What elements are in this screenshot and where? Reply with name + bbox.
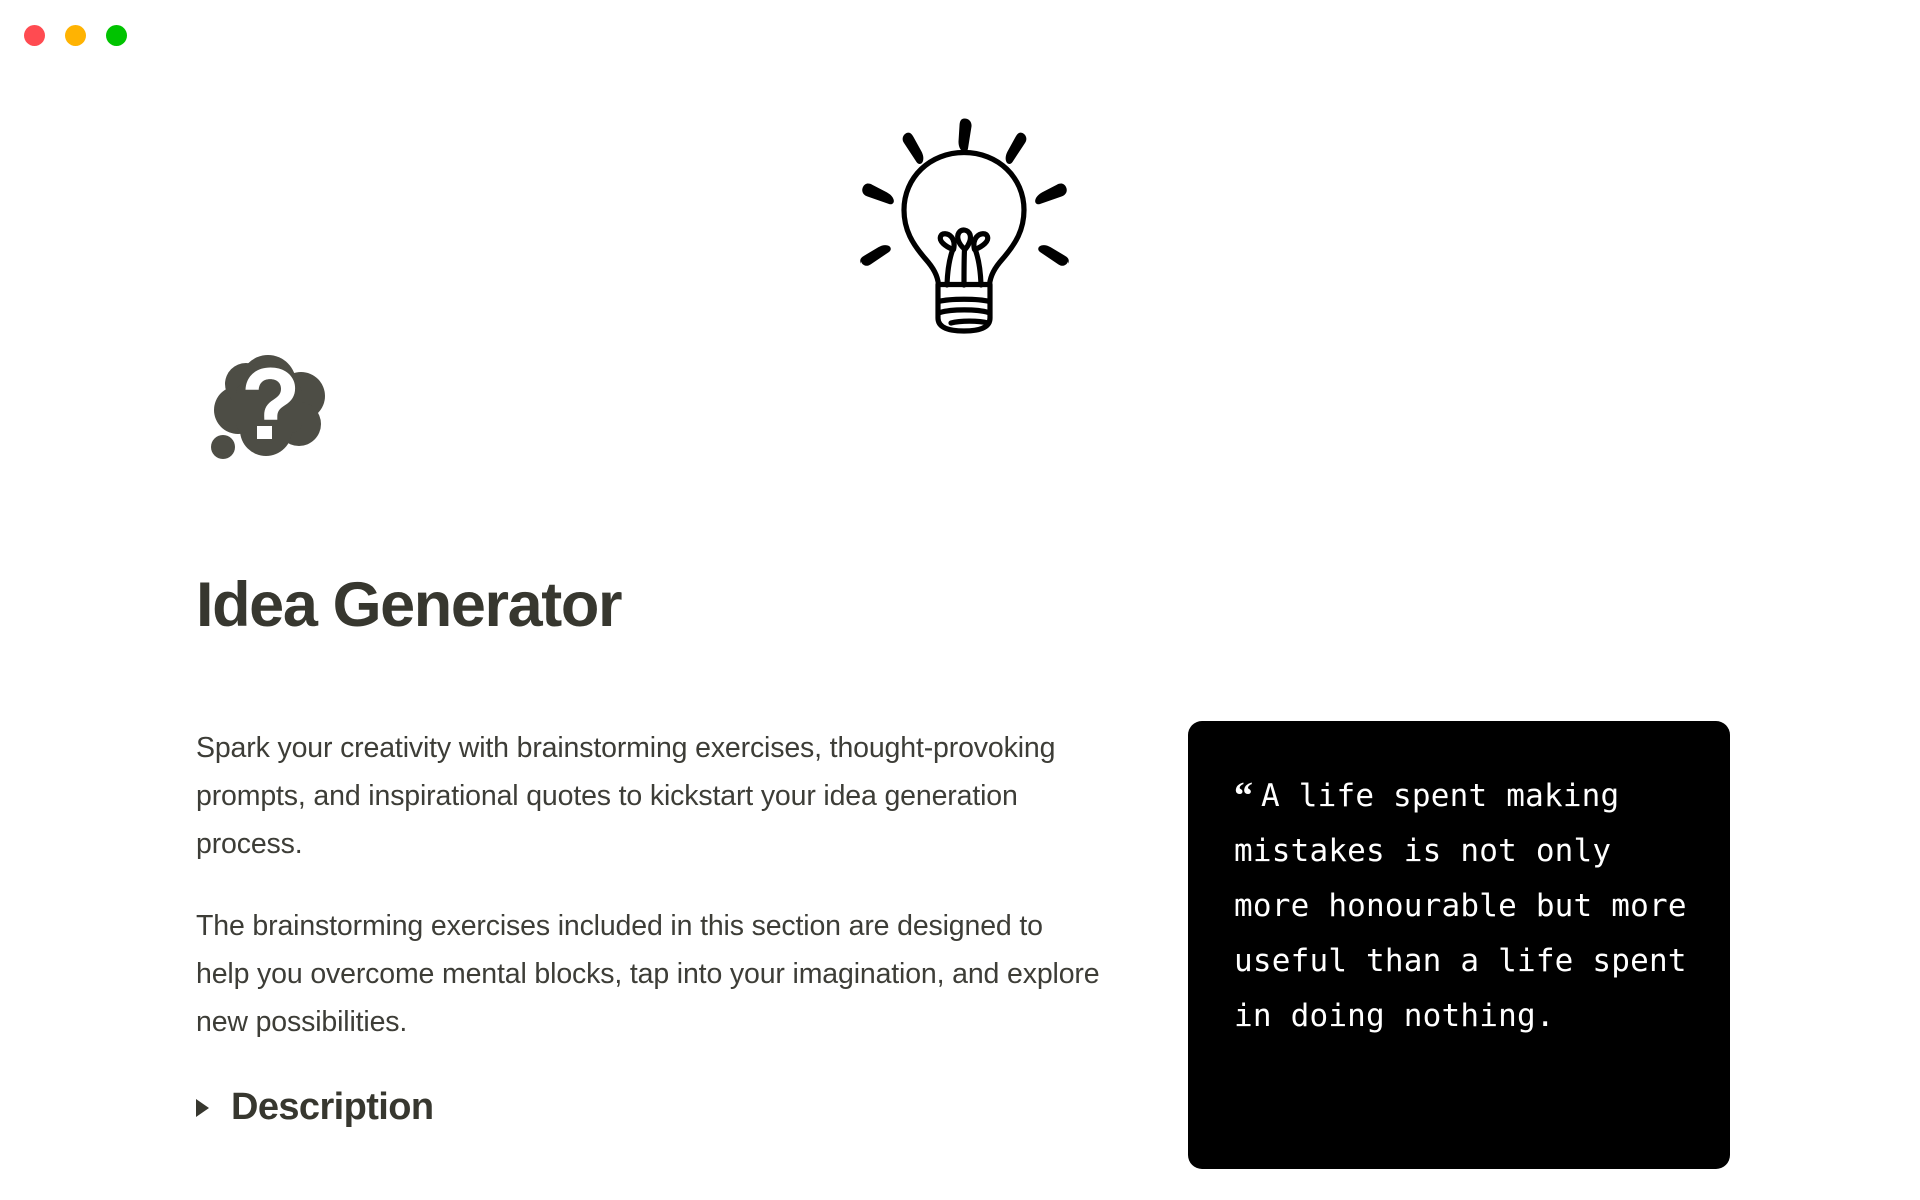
quote-text: A life spent making mistakes is not only…	[1234, 778, 1687, 1034]
chevron-right-icon[interactable]	[196, 1099, 209, 1117]
description-disclosure[interactable]: Description	[196, 1087, 433, 1129]
quotation-mark-icon: “	[1234, 775, 1251, 817]
close-window-button[interactable]	[24, 25, 45, 46]
minimize-window-button[interactable]	[65, 25, 86, 46]
title-bar	[0, 0, 1920, 72]
app-window: Idea Generator Spark your creativity wit…	[0, 0, 1920, 1200]
traffic-light-group	[24, 25, 127, 46]
thought-bubble-question-icon	[208, 350, 330, 462]
quote-card: “A life spent making mistakes is not onl…	[1188, 721, 1730, 1169]
intro-paragraph-2: The brainstorming exercises included in …	[196, 902, 1101, 1046]
description-disclosure-label: Description	[231, 1087, 433, 1129]
maximize-window-button[interactable]	[106, 25, 127, 46]
lightbulb-icon	[848, 112, 1080, 364]
quote-text-block: “A life spent making mistakes is not onl…	[1234, 769, 1690, 1044]
intro-paragraph-1: Spark your creativity with brainstorming…	[196, 724, 1101, 868]
page-title: Idea Generator	[196, 572, 621, 638]
description-body: Spark your creativity with brainstorming…	[196, 724, 1101, 1046]
